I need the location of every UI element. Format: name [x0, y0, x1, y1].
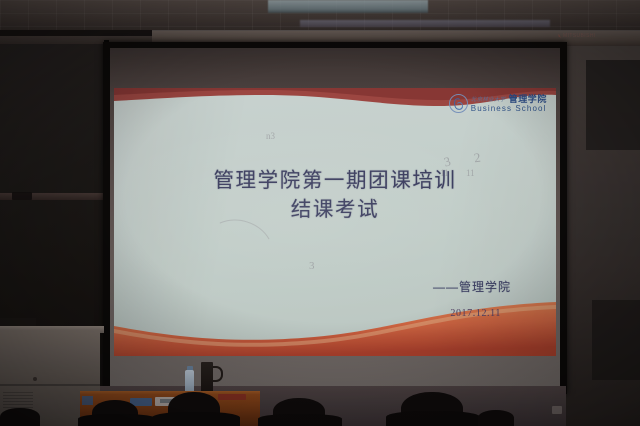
logo-primary-row: 北京林业大学 管理学院 — [471, 95, 547, 104]
wall-panel-lower — [592, 300, 640, 380]
business-school-logo: 北京林业大学 管理学院 Business School — [449, 94, 547, 113]
audience-shoulder-silhouette — [78, 414, 156, 426]
audience-shoulder-silhouette — [386, 411, 480, 426]
slide-title-line-2: 结课考试 — [114, 195, 556, 224]
ceiling-light-fixture — [268, 0, 428, 13]
chalk-rail-clip — [12, 192, 32, 200]
cabinet-vent — [3, 392, 33, 408]
audience-head-silhouette — [478, 410, 514, 426]
logo-text-block: 北京林业大学 管理学院 Business School — [471, 95, 547, 113]
cabinet-knob — [33, 377, 37, 381]
screen-unlit-area — [110, 48, 560, 92]
cabinet-seam — [0, 384, 100, 386]
slide-date: 2017.12.11 — [450, 308, 501, 319]
slide-byline: ——管理学院 — [433, 278, 511, 295]
wall-outlet — [552, 406, 562, 414]
logo-english-name: Business School — [471, 105, 547, 113]
audience-shoulder-silhouette — [152, 412, 240, 426]
business-school-emblem-icon — [449, 94, 468, 113]
mitsubishi-logo-icon — [556, 34, 561, 39]
mitsubishi-brand-label: MITSUBISHI — [563, 33, 596, 39]
logo-chinese-name: 管理学院 — [509, 95, 547, 104]
audience-shoulder-silhouette — [258, 414, 342, 426]
podium-red-object — [218, 394, 246, 400]
logo-university-script: 北京林业大学 — [471, 98, 506, 104]
wall-panel-upper — [586, 60, 640, 150]
ceiling-light-fixture-secondary — [300, 20, 550, 27]
projected-slide: 3 2 11 11 n3 3 北京林业大学 管理学院 Business Scho… — [114, 88, 556, 356]
audience-head-silhouette — [0, 408, 40, 426]
podium-sticker-blue — [82, 396, 93, 405]
classroom-photo-scene: MITSUBISHI — [0, 0, 640, 426]
mitsubishi-brand-mark: MITSUBISHI — [556, 33, 596, 39]
slide-title: 管理学院第一期团课培训 结课考试 — [114, 166, 556, 224]
slide-title-line-1: 管理学院第一期团课培训 — [213, 169, 456, 192]
